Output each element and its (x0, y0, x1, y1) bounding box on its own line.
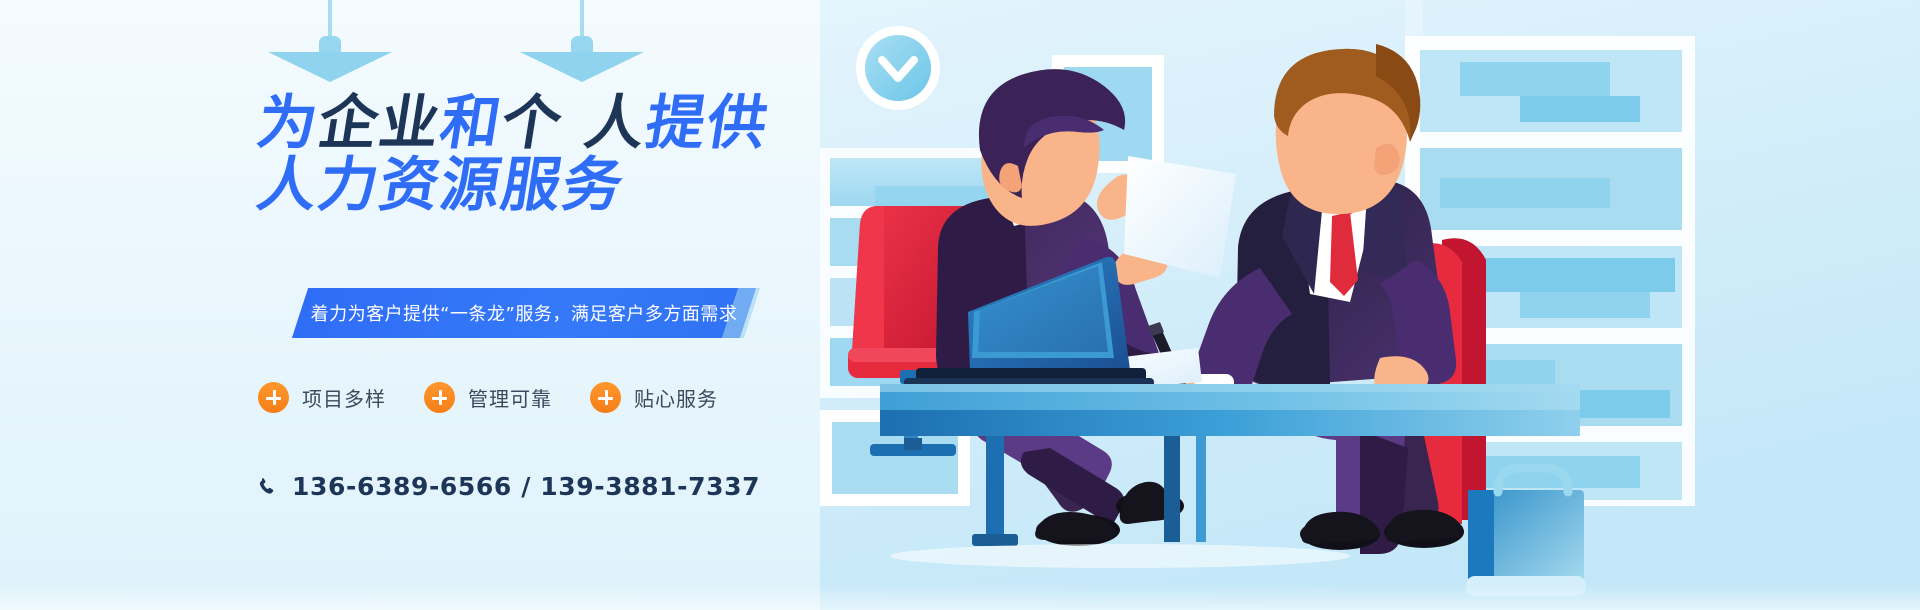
contact-block[interactable]: 136-6389-6566 / 139-3881-7337 (256, 472, 760, 501)
headline-seg: 人力资源服务 (253, 154, 629, 216)
headline-block: 为企业和个 人提供 人力资源服务 (258, 92, 1018, 216)
headline-seg: 和 (436, 92, 507, 154)
headline-line-2: 人力资源服务 (253, 154, 1023, 216)
feature-list: 项目多样 管理可靠 贴心服务 (258, 382, 718, 413)
plus-icon (424, 382, 455, 413)
headline-seg: 提供 (642, 92, 774, 154)
subtitle-text: 着力为客户提供“一条龙”服务，满足客户多方面需求 (278, 288, 770, 338)
hero-banner: 为企业和个 人提供 人力资源服务 着力为客户提供“一条龙”服务，满足客户多方面需… (0, 0, 1920, 610)
pendant-lamp-icon (268, 0, 392, 84)
subtitle-ribbon: 着力为客户提供“一条龙”服务，满足客户多方面需求 (300, 288, 748, 338)
headline-seg: 为 (253, 92, 324, 154)
headline-seg: 企业 (314, 92, 446, 154)
phone-number: 136-6389-6566 / 139-3881-7337 (292, 472, 760, 501)
bottom-fade (0, 584, 1920, 610)
feature-label: 管理可靠 (468, 383, 552, 412)
feature-item[interactable]: 项目多样 (258, 382, 386, 413)
feature-label: 贴心服务 (634, 383, 718, 412)
pendant-lamp-icon (520, 0, 644, 84)
headline-seg: 个 人 (497, 92, 651, 154)
feature-item[interactable]: 管理可靠 (424, 382, 552, 413)
feature-label: 项目多样 (302, 383, 386, 412)
plus-icon (258, 382, 289, 413)
feature-item[interactable]: 贴心服务 (590, 382, 718, 413)
phone-icon (256, 476, 278, 498)
headline-line-1: 为企业和个 人提供 (253, 92, 1023, 154)
plus-icon (590, 382, 621, 413)
